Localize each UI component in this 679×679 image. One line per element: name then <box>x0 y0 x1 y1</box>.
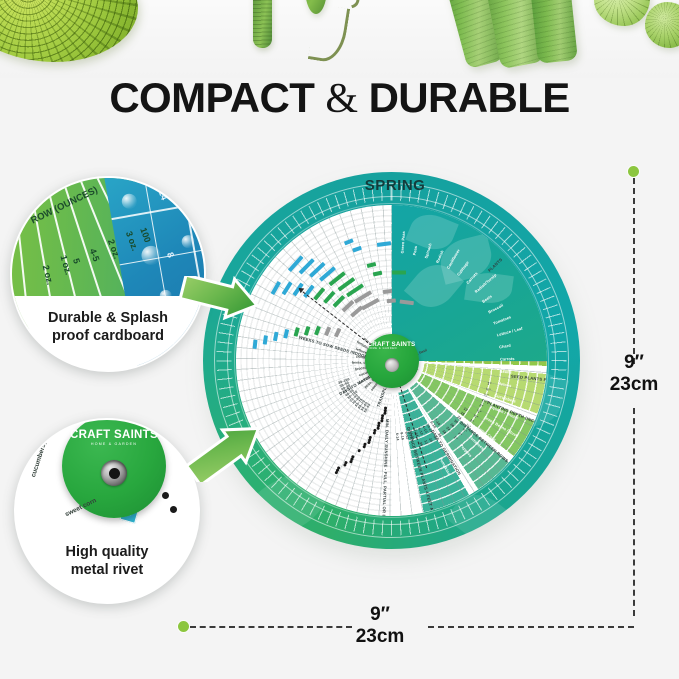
callout-durable-splash-proof: ROW (OUNCES) 2 oz. 1 oz. 5 4-5 2 oz. 3 o… <box>10 176 206 372</box>
savoy-cabbage-image <box>0 0 138 62</box>
hub-logo-text: CRAFT SAINTS HOME & GARDEN <box>368 342 416 351</box>
width-cm: 23cm <box>356 626 405 647</box>
rivet-logo-text: CRAFT SAINTS HOME & GARDEN <box>62 430 166 447</box>
page-title: COMPACT & DURABLE <box>0 74 679 123</box>
dimension-label-width: 9″ 23cm <box>340 604 420 647</box>
metal-rivet-closeup <box>101 460 127 486</box>
spring-letter-0: S <box>365 177 376 194</box>
wheel-center-hub[interactable]: CRAFT SAINTS HOME & GARDEN <box>365 334 419 388</box>
wheel-data-disc[interactable]: Green PeasPeasSpinachRadishCauliflowerCa… <box>236 205 547 516</box>
plant-label-14: Beans <box>499 368 512 374</box>
fan-value-planting_depth-1: ½″ <box>485 387 491 392</box>
rivet-logo-subtitle: HOME & GARDEN <box>62 443 166 447</box>
height-inches: 9″ <box>624 352 644 373</box>
pepper-stem-curl <box>308 4 350 65</box>
wheel-outer-rim[interactable]: Green PeasPeasSpinachRadishCauliflowerCa… <box>203 172 580 549</box>
hub-logo-subtitle: HOME & GARDEN <box>368 348 416 350</box>
fan-value-row_distance-10: 12 <box>423 439 428 445</box>
arrow-top-callout <box>178 276 262 342</box>
center-rivet <box>385 358 399 372</box>
cucumber-image <box>253 0 272 48</box>
dimension-dot-top-right <box>628 166 639 177</box>
rivet-wedge-text-0: cucumbers, peppers, onl <box>30 418 60 478</box>
fan-value-planting_depth-2: ¼″ <box>483 392 489 397</box>
spring-letter-2: R <box>386 177 397 194</box>
dimension-line-horizontal-right <box>428 626 634 628</box>
spring-letter-4: N <box>402 177 413 194</box>
dimension-label-height: 9″ 23cm <box>594 352 674 395</box>
width-inches: 9″ <box>370 604 390 625</box>
rivet-green-disc: CRAFT SAINTS HOME & GARDEN <box>62 418 166 518</box>
callout-bottom-line-2: metal rivet <box>24 562 190 580</box>
plant-label-12: Chard <box>498 342 510 349</box>
callout-bottom-caption: High quality metal rivet <box>16 530 198 602</box>
brussels-sprout-image-2 <box>645 2 679 48</box>
spring-season-label: SPRING <box>382 178 408 193</box>
callout-bottom-line-1: High quality <box>24 544 190 562</box>
callout-metal-rivet: 7-14 12 80 CRAFT SAINTS HOME & GARDEN cu… <box>14 418 200 604</box>
headline-part-1: COMPACT <box>109 74 314 121</box>
calendar-bar-23 <box>392 270 406 274</box>
arrow-bottom-callout <box>182 408 272 482</box>
height-cm: 23cm <box>610 374 659 395</box>
produce-photo-band <box>0 0 679 78</box>
spring-letter-1: P <box>375 177 386 194</box>
dimension-line-vertical-upper <box>633 178 635 364</box>
plant-label-1: Peas <box>411 245 418 255</box>
fan-value-days_to_germination-8: 8-16 <box>399 432 404 440</box>
headline-ampersand: & <box>325 76 357 122</box>
plant-label-0: Green Peas <box>399 230 406 253</box>
brussels-sprout-image-1 <box>594 0 650 26</box>
plant-label-13: Carrots <box>499 355 514 361</box>
headline-part-2: DURABLE <box>369 74 570 121</box>
planting-wheel[interactable]: Green PeasPeasSpinachRadishCauliflowerCa… <box>203 172 580 588</box>
callout-top-line-1: Durable & Splash <box>20 310 196 328</box>
calendar-bar-34 <box>386 298 395 303</box>
dimension-dot-bottom-left <box>178 621 189 632</box>
fan-value-planting_depth-4: 2″ <box>478 403 483 408</box>
spring-letters: SPRING <box>365 178 426 193</box>
dimension-line-horizontal-left <box>190 626 352 628</box>
fan-value-days_to_germination-9: 6-14 <box>395 432 400 440</box>
spring-letter-5: G <box>413 177 425 194</box>
callout-top-line-2: proof cardboard <box>20 328 196 346</box>
dimension-line-vertical-lower <box>633 408 635 616</box>
callout-top-caption: Durable & Splash proof cardboard <box>12 296 204 370</box>
sunshine-dot-3-1 <box>372 431 376 435</box>
rivet-dot-1 <box>162 492 169 499</box>
fan-value-planting_depth-0: 1″ <box>487 381 492 386</box>
rivet-dot-2 <box>170 506 177 513</box>
calendar-bar-30 <box>382 288 391 293</box>
